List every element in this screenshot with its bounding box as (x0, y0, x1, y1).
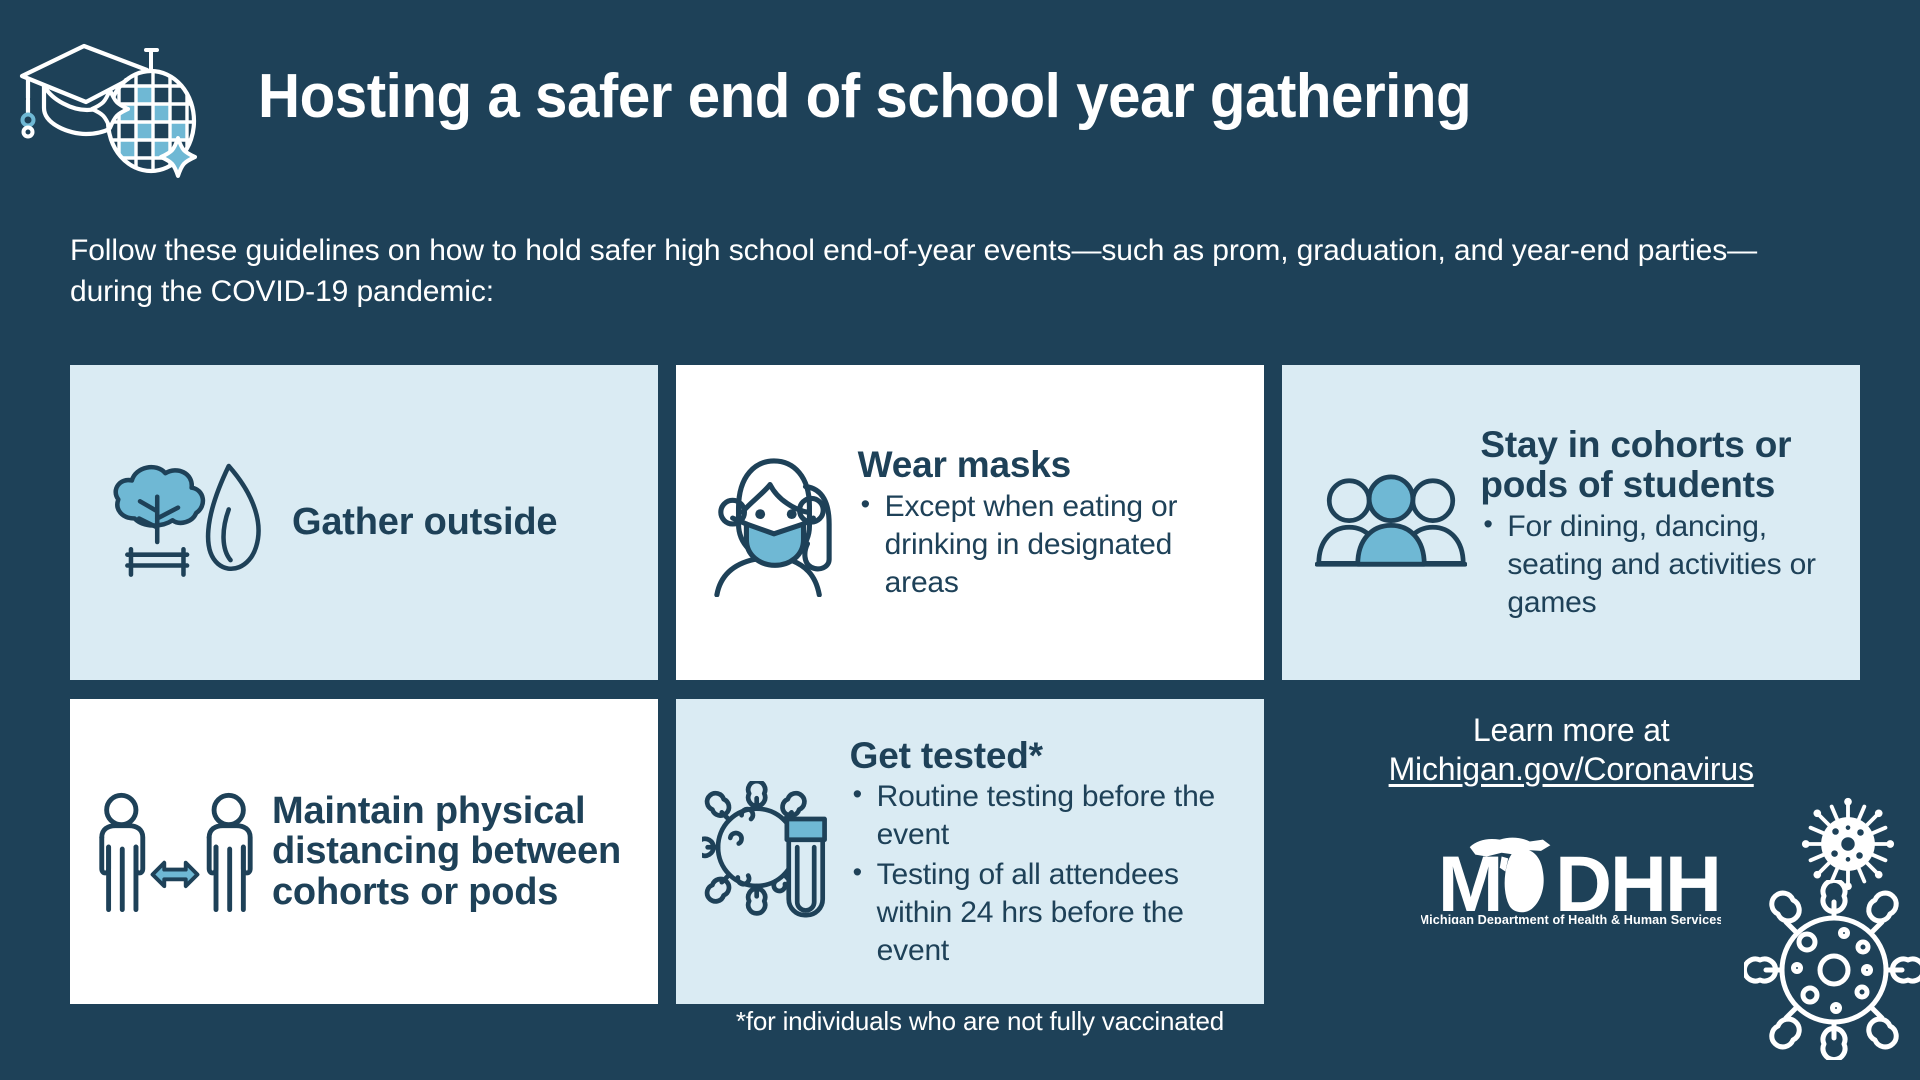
two-people-distancing-arrow-icon (84, 788, 266, 916)
list-item: Routine testing before the event (850, 778, 1243, 854)
header: Hosting a safer end of school year gathe… (0, 0, 1920, 290)
card-title: Stay in cohorts or pods of students (1480, 425, 1848, 505)
footnote-vaccination-note: *for individuals who are not fully vacci… (680, 1006, 1280, 1037)
card-body: Wear masks Except when eating or drinkin… (848, 443, 1265, 601)
card-physical-distancing: Maintain physical distancing between coh… (70, 699, 658, 1004)
card-bullet-list: For dining, dancing, seating and activit… (1480, 508, 1848, 621)
svg-text:DHHS: DHHS (1555, 840, 1721, 924)
card-body: Stay in cohorts or pods of students For … (1476, 423, 1860, 621)
list-item: Except when eating or drinking in design… (858, 488, 1231, 601)
card-wear-masks: Wear masks Except when eating or drinkin… (676, 365, 1265, 680)
list-item: For dining, dancing, seating and activit… (1480, 508, 1848, 621)
learn-more-label: Learn more at (1282, 711, 1860, 749)
card-body: Get tested* Routine testing before the e… (842, 734, 1265, 970)
card-body: Gather outside (288, 502, 658, 543)
list-item: Testing of all attendees within 24 hrs b… (850, 856, 1243, 969)
card-title: Gather outside (292, 502, 644, 543)
card-bullet-list: Except when eating or drinking in design… (858, 488, 1231, 601)
group-of-people-icon (1306, 470, 1476, 575)
grid-row-1: Gather outside (70, 365, 1860, 680)
card-bullet-list: Routine testing before the event Testing… (850, 778, 1243, 969)
graduation-cap-disco-ball-icon (14, 26, 229, 186)
card-title: Wear masks (858, 445, 1231, 485)
tree-bench-icon (88, 455, 288, 591)
grid-row-2: Maintain physical distancing between coh… (70, 699, 1860, 1004)
person-wearing-mask-icon (698, 449, 848, 597)
virus-outline-icon (1744, 880, 1920, 1060)
card-title: Get tested* (850, 736, 1243, 776)
page-subtitle: Follow these guidelines on how to hold s… (70, 230, 1830, 313)
mdhhs-tagline: Michigan Department of Health & Human Se… (1421, 913, 1721, 924)
virus-test-tube-icon (694, 781, 842, 923)
card-get-tested: Get tested* Routine testing before the e… (676, 699, 1265, 1004)
card-gather-outside: Gather outside (70, 365, 658, 680)
card-title: Maintain physical distancing between coh… (272, 791, 644, 912)
virus-filled-icon (1800, 796, 1896, 892)
card-body: Maintain physical distancing between coh… (266, 791, 658, 912)
page-title: Hosting a safer end of school year gathe… (258, 66, 1800, 128)
guidelines-grid: Gather outside (70, 365, 1860, 1004)
svg-text:M: M (1438, 840, 1502, 924)
card-stay-in-cohorts: Stay in cohorts or pods of students For … (1282, 365, 1860, 680)
coronavirus-website-link[interactable]: Michigan.gov/Coronavirus (1389, 749, 1754, 791)
